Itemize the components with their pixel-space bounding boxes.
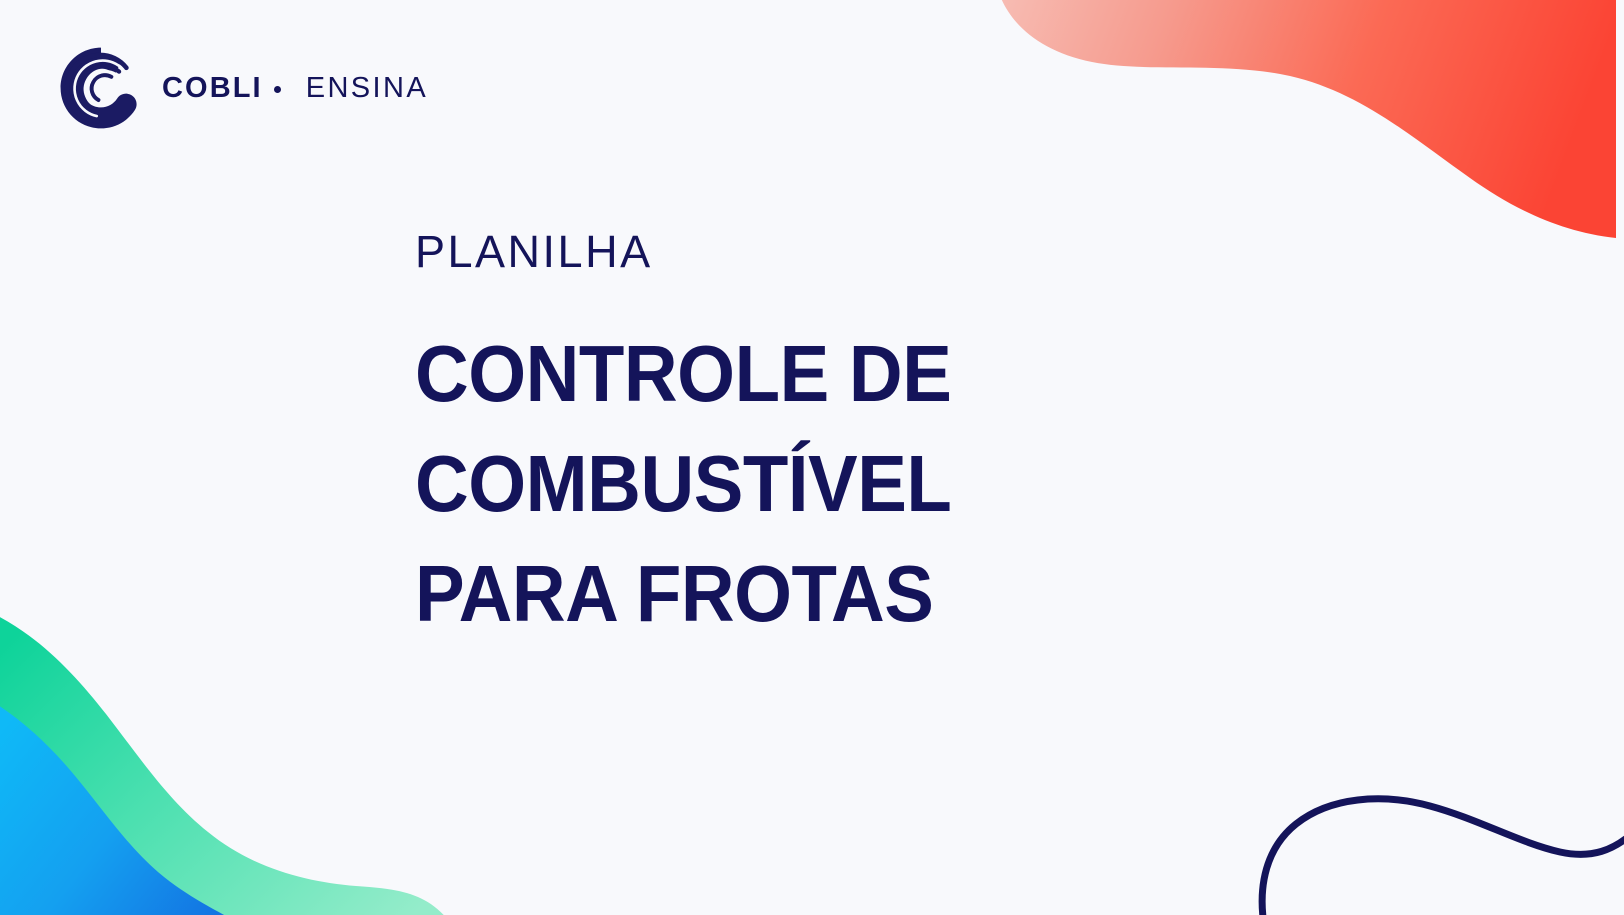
brand-wordmark: COBLI ENSINA xyxy=(162,74,428,103)
hero-title: CONTROLE DE COMBUSTÍVEL PARA FROTAS xyxy=(415,319,992,648)
bottom-left-green-wave-shape xyxy=(0,612,452,915)
brand-sublabel: ENSINA xyxy=(306,74,428,103)
hero-text-block: PLANILHA CONTROLE DE COMBUSTÍVEL PARA FR… xyxy=(415,227,992,648)
brand-name: COBLI xyxy=(162,74,263,103)
top-right-red-wave-shape xyxy=(998,0,1616,238)
bottom-right-navy-curve-shape xyxy=(1262,799,1624,915)
brand-lockup: COBLI ENSINA xyxy=(58,45,428,131)
brand-separator-dot xyxy=(274,86,281,93)
hero-title-line-1: CONTROLE DE xyxy=(415,319,951,429)
bottom-left-blue-wave-shape xyxy=(0,700,242,915)
hero-title-line-3: PARA FROTAS xyxy=(415,539,951,649)
hero-title-line-2: COMBUSTÍVEL xyxy=(415,429,951,539)
cobli-c-spiral-logo-icon xyxy=(58,45,144,131)
cover-slide: COBLI ENSINA PLANILHA CONTROLE DE COMBUS… xyxy=(0,0,1624,915)
hero-eyebrow: PLANILHA xyxy=(415,227,992,277)
